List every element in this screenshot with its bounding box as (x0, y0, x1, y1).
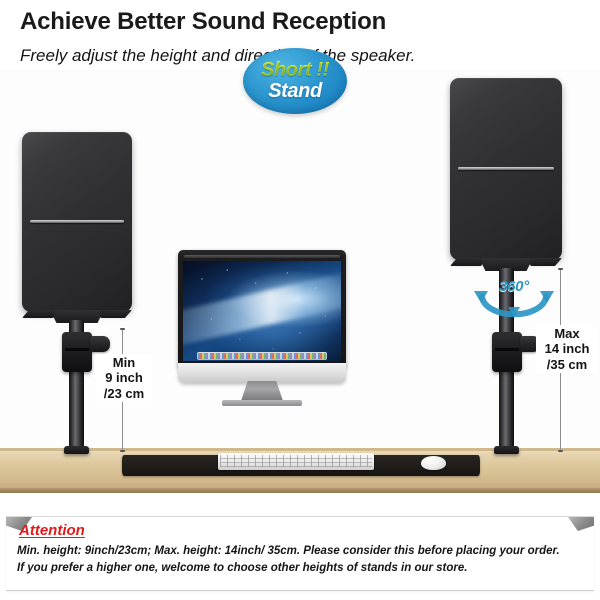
attention-line-2: If you prefer a higher one, welcome to c… (17, 560, 583, 577)
monitor-screen (183, 261, 341, 361)
monitor-base (222, 400, 302, 406)
attention-title: Attention (19, 522, 85, 539)
max-dimension-cm: /35 cm (538, 357, 596, 372)
right-speaker-panel (450, 78, 562, 260)
short-stand-badge: Short !! Stand (243, 48, 347, 114)
right-speaker-slot (458, 167, 554, 170)
infographic-page: Achieve Better Sound Reception Freely ad… (0, 0, 600, 600)
computer-monitor (178, 250, 346, 390)
monitor-top-strip (184, 255, 340, 258)
attention-body: Min. height: 9inch/23cm; Max. height: 14… (17, 543, 583, 578)
rotation-360-label: 360° (468, 278, 560, 295)
min-dimension-inches: 9 inch (98, 370, 150, 385)
page-title: Achieve Better Sound Reception (20, 8, 386, 36)
rotation-360-indicator: 360° (468, 277, 560, 319)
left-pole-foot (64, 446, 89, 454)
left-speaker-slot (30, 220, 125, 223)
min-dimension-tick-top (120, 328, 125, 330)
badge-line-1: Short !! (261, 60, 329, 80)
left-speaker-panel (22, 132, 132, 312)
monitor-chin (178, 363, 346, 383)
attention-box: Attention Min. height: 9inch/23cm; Max. … (6, 516, 594, 591)
min-dimension-title: Min (98, 355, 150, 370)
max-dimension-label: Max 14 inch /35 cm (536, 325, 598, 373)
max-dimension-tick-bottom (558, 450, 563, 452)
min-dimension-label: Min 9 inch /23 cm (96, 354, 152, 402)
attention-corner-right-icon (568, 517, 594, 531)
badge-line-2: Stand (268, 81, 322, 102)
wallpaper-stars (183, 261, 341, 361)
attention-bottom-rule (6, 590, 594, 591)
keyboard (218, 453, 374, 470)
max-dimension-title: Max (538, 326, 596, 341)
right-clamp (492, 332, 522, 372)
left-clamp (62, 332, 92, 372)
page-subtitle: Freely adjust the height and direction o… (20, 46, 415, 66)
screen-dock (197, 352, 327, 360)
min-dimension-tick-bottom (120, 450, 125, 452)
min-dimension-cm: /23 cm (98, 386, 150, 401)
desk-front-edge (0, 488, 600, 493)
max-dimension-inches: 14 inch (538, 341, 596, 356)
max-dimension-tick-top (558, 268, 563, 270)
left-clamp-knob[interactable] (90, 336, 110, 352)
product-scene: 360° Min 9 inch /23 cm Max 14 inch /35 c… (0, 70, 600, 510)
mouse (421, 456, 446, 470)
right-pole-foot (494, 446, 519, 454)
monitor-neck (241, 381, 283, 401)
attention-line-1: Min. height: 9inch/23cm; Max. height: 14… (17, 543, 583, 560)
